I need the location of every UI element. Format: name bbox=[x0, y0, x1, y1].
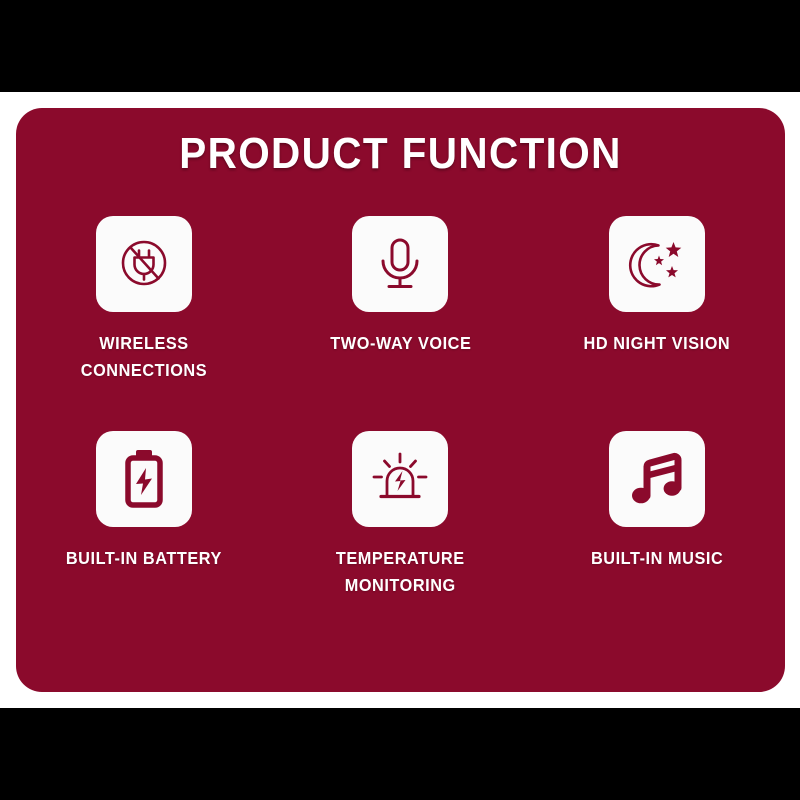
feature-label: TEMPERATURE MONITORING bbox=[336, 545, 465, 599]
letterbox-bar-bottom bbox=[0, 708, 800, 800]
feature-item-wireless-connections[interactable]: WIRELESS CONNECTIONS bbox=[16, 216, 272, 431]
screenshot-canvas: PRODUCT FUNCTION bbox=[0, 0, 800, 800]
letterbox-bar-top bbox=[0, 0, 800, 92]
microphone-icon bbox=[373, 235, 427, 293]
feature-label: HD NIGHT VISION bbox=[583, 330, 730, 357]
feature-item-temperature-monitoring[interactable]: TEMPERATURE MONITORING bbox=[272, 431, 528, 646]
siren-bolt-icon bbox=[369, 450, 431, 508]
icon-tile bbox=[609, 216, 705, 312]
feature-label: TWO-WAY VOICE bbox=[330, 330, 471, 357]
feature-label-line1: TEMPERATURE bbox=[336, 548, 465, 568]
feature-label-line1: HD NIGHT VISION bbox=[583, 333, 730, 353]
feature-label-line1: TWO-WAY VOICE bbox=[330, 333, 471, 353]
moon-stars-icon bbox=[628, 235, 686, 293]
no-plug-icon bbox=[115, 235, 173, 293]
feature-label: WIRELESS CONNECTIONS bbox=[81, 330, 207, 384]
feature-item-hd-night-vision[interactable]: HD NIGHT VISION bbox=[529, 216, 785, 431]
music-note-icon bbox=[629, 450, 685, 508]
feature-label: BUILT-IN MUSIC bbox=[591, 545, 723, 572]
battery-bolt-icon bbox=[121, 449, 167, 509]
page-title: PRODUCT FUNCTION bbox=[47, 132, 754, 176]
feature-item-built-in-battery[interactable]: BUILT-IN BATTERY bbox=[16, 431, 272, 646]
icon-tile bbox=[352, 216, 448, 312]
icon-tile bbox=[609, 431, 705, 527]
icon-tile bbox=[96, 431, 192, 527]
feature-label-line1: BUILT-IN BATTERY bbox=[66, 548, 222, 568]
feature-label: BUILT-IN BATTERY bbox=[66, 545, 222, 572]
feature-item-two-way-voice[interactable]: TWO-WAY VOICE bbox=[272, 216, 528, 431]
feature-label-line2: MONITORING bbox=[345, 575, 456, 595]
icon-tile bbox=[96, 216, 192, 312]
feature-item-built-in-music[interactable]: BUILT-IN MUSIC bbox=[529, 431, 785, 646]
feature-label-line1: BUILT-IN MUSIC bbox=[591, 548, 723, 568]
product-function-card: PRODUCT FUNCTION bbox=[16, 108, 785, 692]
icon-tile bbox=[352, 431, 448, 527]
feature-grid: WIRELESS CONNECTIONS bbox=[16, 216, 785, 646]
feature-label-line2: CONNECTIONS bbox=[81, 360, 207, 380]
feature-label-line1: WIRELESS bbox=[99, 333, 188, 353]
